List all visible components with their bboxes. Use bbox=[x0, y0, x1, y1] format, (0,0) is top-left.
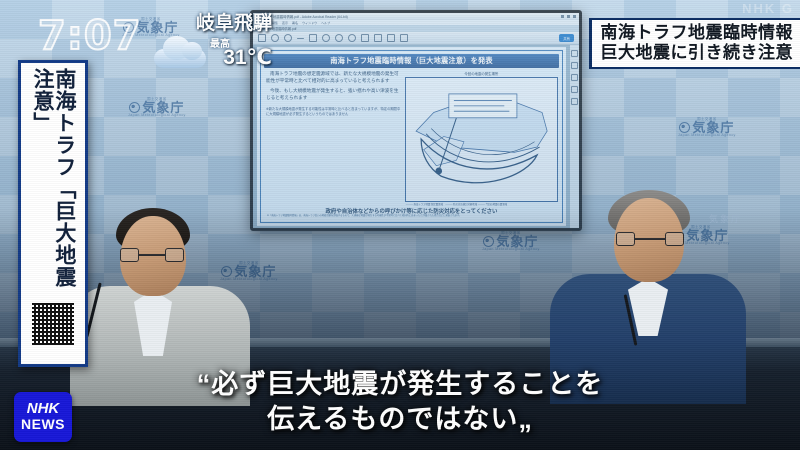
clock: 7:07 bbox=[38, 16, 142, 56]
subtitle-line-2: 伝えるものではない„ bbox=[0, 402, 800, 438]
open-quote: “ bbox=[197, 369, 212, 399]
weather-region: 岐阜飛騨 bbox=[196, 8, 272, 35]
presenter-left bbox=[62, 194, 258, 394]
channel-watermark: NHK G bbox=[742, 1, 794, 16]
headline-line-2: 巨大地震に引き続き注意 bbox=[601, 43, 794, 63]
lens-right bbox=[665, 232, 684, 246]
headline-line-1: 南海トラフ地震臨時情報 bbox=[601, 23, 794, 43]
presenter-right-glasses bbox=[616, 232, 684, 246]
news-logo-text: NEWS bbox=[21, 416, 65, 434]
subtitle-line-1: “必ず巨大地震が発生することを bbox=[0, 367, 800, 403]
weather-high-temp: 31℃ bbox=[223, 45, 272, 70]
nhk-logo-text: NHK bbox=[27, 401, 60, 416]
subtitle: “必ず巨大地震が発生することを 伝えるものではない„ bbox=[0, 367, 800, 438]
nhk-news-logo: NHK NEWS bbox=[14, 392, 72, 442]
vertical-banner: 南海トラフ「巨大地震注意」 bbox=[18, 60, 88, 367]
broadcast-screen: 国土交通省 気象庁 Japan Meteorological Agency 国土… bbox=[0, 0, 800, 450]
presenter-right-uniform-text: 気象庁 bbox=[709, 212, 742, 225]
lens-left bbox=[616, 232, 635, 246]
qr-code[interactable] bbox=[30, 301, 76, 347]
weather-widget: 岐阜飛騨 最高 31℃ bbox=[150, 8, 274, 78]
headline-banner: 南海トラフ地震臨時情報 巨大地震に引き続き注意 bbox=[589, 18, 800, 69]
vertical-banner-text: 南海トラフ「巨大地震注意」 bbox=[31, 68, 75, 296]
glasses-bridge bbox=[635, 238, 665, 240]
close-quote: „ bbox=[518, 404, 533, 434]
lens-right bbox=[165, 248, 184, 262]
glasses-bridge bbox=[139, 254, 165, 256]
presenter-left-glasses bbox=[120, 248, 184, 262]
lens-left bbox=[120, 248, 139, 262]
cloud-icon bbox=[154, 36, 206, 68]
